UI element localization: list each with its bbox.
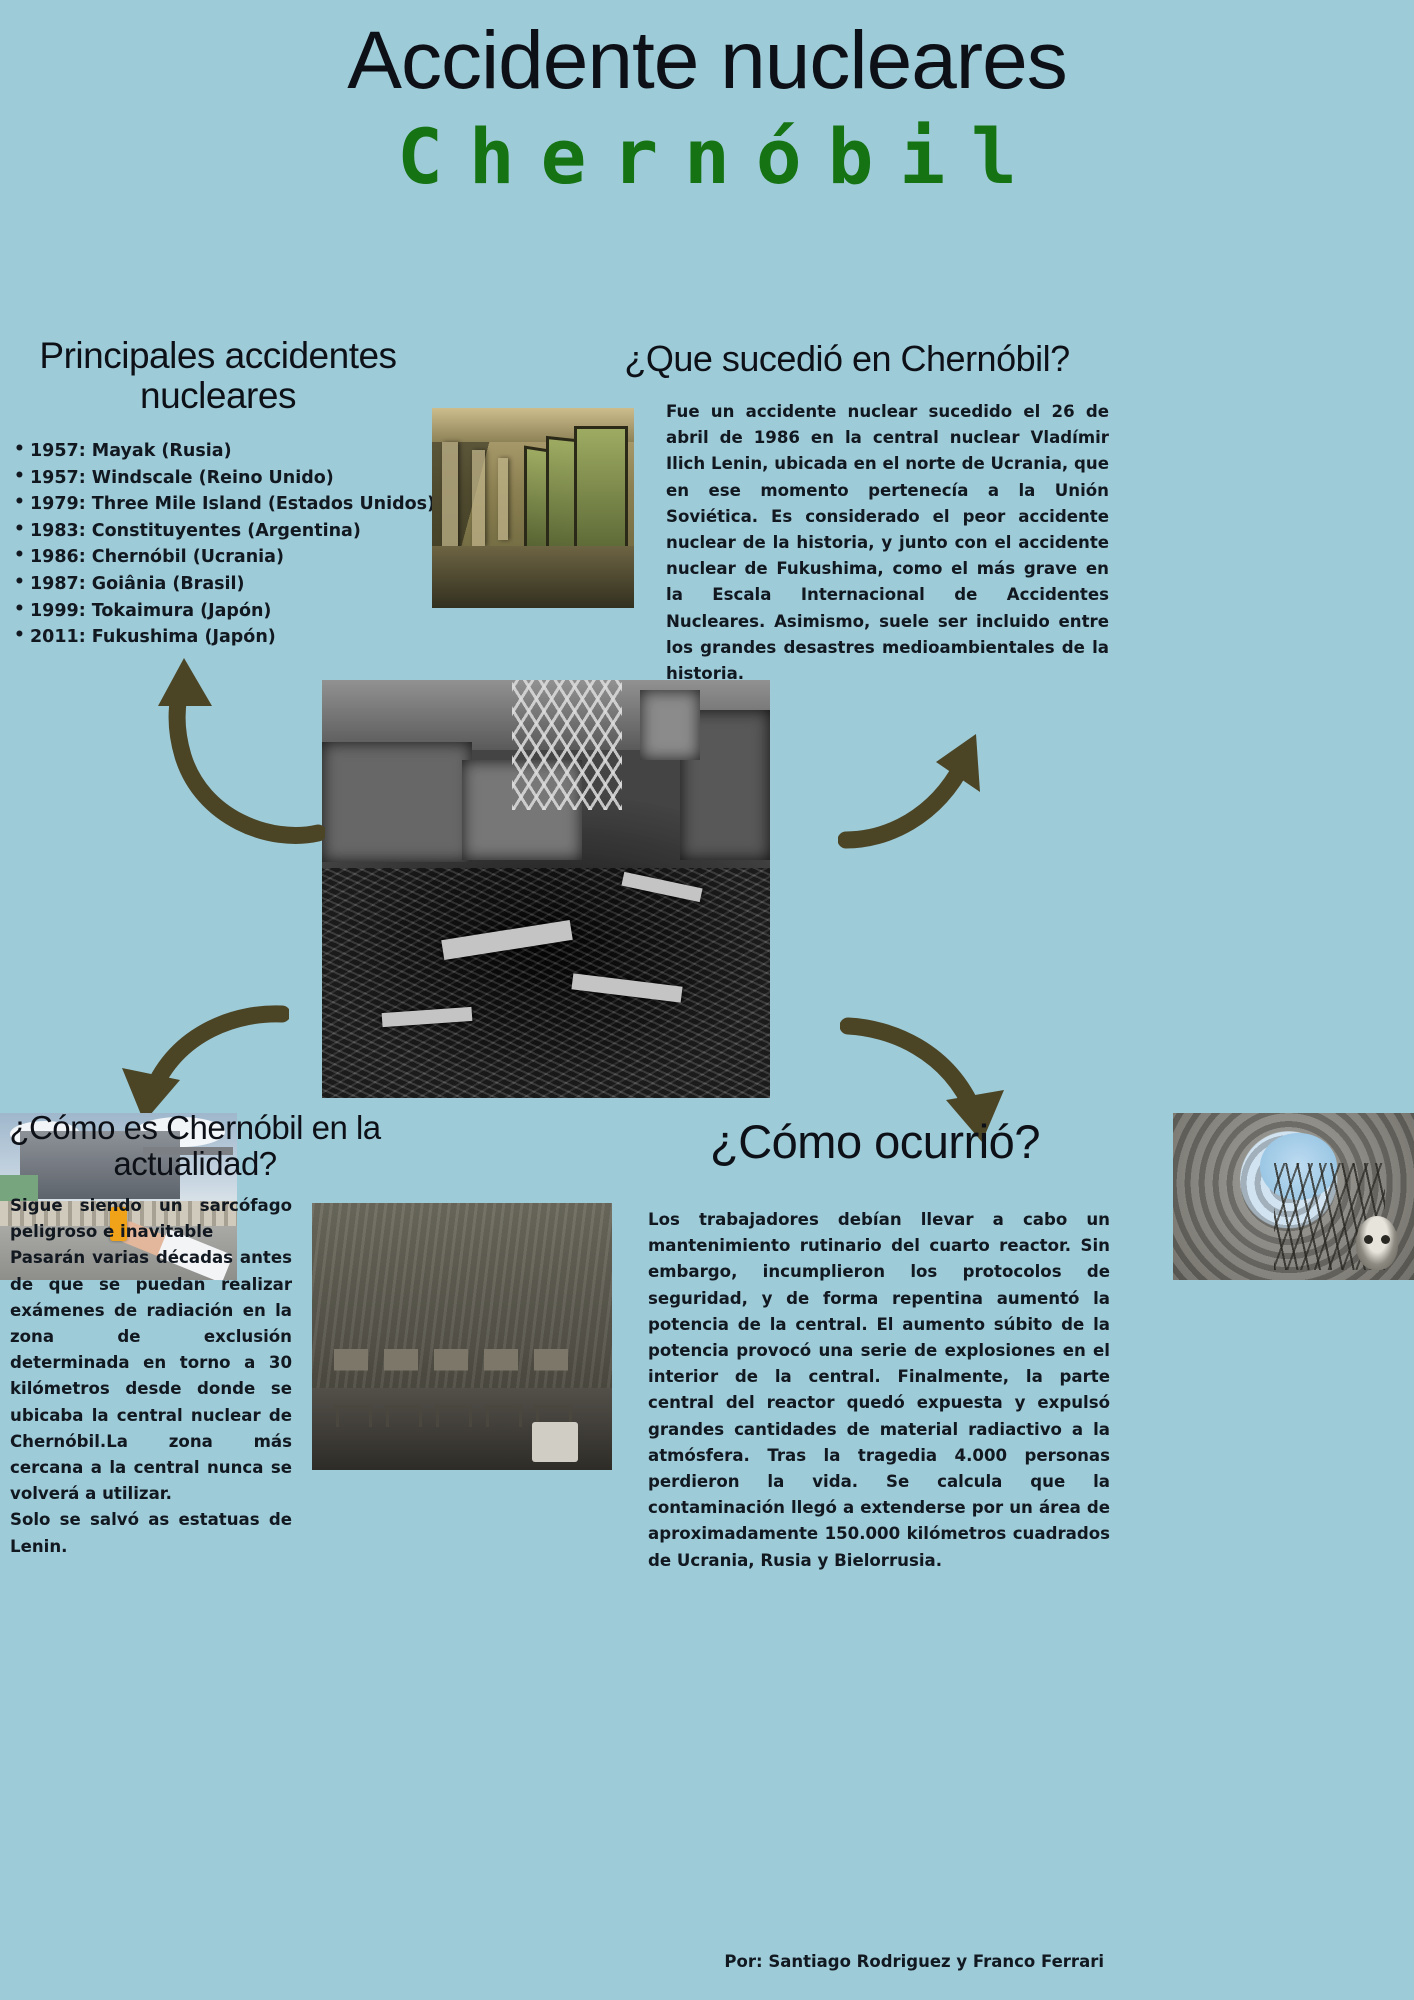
page-title: Accidente nucleares xyxy=(0,14,1414,108)
list-item: 1999: Tokaimura (Japón) xyxy=(14,598,444,625)
photo-layer xyxy=(334,1349,368,1408)
paragraph-text: Solo se salvó as estatuas de Lenin. xyxy=(10,1507,292,1559)
photo-layer xyxy=(498,458,508,540)
arrow-up-left-icon xyxy=(150,648,325,848)
cooling-tower-interior-photo xyxy=(1173,1113,1414,1280)
list-item: 1979: Three Mile Island (Estados Unidos) xyxy=(14,491,444,518)
photo-layer xyxy=(1356,1216,1398,1270)
photo-layer xyxy=(472,450,485,546)
list-item: 1986: Chernóbil (Ucrania) xyxy=(14,544,444,571)
list-item: 2011: Fukushima (Japón) xyxy=(14,624,444,651)
paragraph-actualidad: Sigue siendo un sarcófago peligroso e in… xyxy=(10,1193,292,1560)
abandoned-room-chairs-photo xyxy=(312,1203,612,1470)
section-heading-actualidad: ¿Cómo es Chernóbil en la actualidad? xyxy=(0,1110,390,1181)
paragraph-como-ocurrio: Los trabajadores debían llevar a cabo un… xyxy=(648,1207,1110,1574)
paragraph-text: Los trabajadores debían llevar a cabo un… xyxy=(648,1207,1110,1574)
paragraph-text: Pasarán varias décadas antes de que se p… xyxy=(10,1245,292,1507)
photo-layer xyxy=(432,546,634,608)
paragraph-text: Fue un accidente nuclear sucedido el 26 … xyxy=(666,399,1109,687)
paragraph-text: Sigue siendo un sarcófago peligroso e in… xyxy=(10,1193,292,1245)
poster-canvas: Accidente nucleares Chernóbil Principale… xyxy=(0,0,1414,2000)
paragraph-que-sucedio: Fue un accidente nuclear sucedido el 26 … xyxy=(666,399,1109,687)
arrow-up-right-icon xyxy=(838,700,1003,850)
destroyed-reactor-aerial-photo xyxy=(322,680,770,1098)
photo-layer xyxy=(322,742,472,862)
page-subtitle: Chernóbil xyxy=(0,112,1414,201)
photo-layer xyxy=(384,1349,418,1408)
section-heading-que-sucedio: ¿Que sucedió en Chernóbil? xyxy=(580,340,1114,379)
photo-layer xyxy=(442,442,458,552)
photo-layer xyxy=(512,680,622,810)
section-heading-como-ocurrio: ¿Cómo ocurrió? xyxy=(640,1117,1110,1168)
photo-layer xyxy=(322,868,770,1098)
section-heading-accidents: Principales accidentes nucleares xyxy=(8,336,428,416)
photo-layer xyxy=(534,1349,568,1408)
photo-layer xyxy=(434,1349,468,1408)
photo-layer xyxy=(640,690,700,760)
credits-line: Por: Santiago Rodriguez y Franco Ferrari xyxy=(614,1952,1104,1971)
photo-layer xyxy=(484,1349,518,1408)
list-item: 1957: Mayak (Rusia) xyxy=(14,438,444,465)
list-item: 1957: Windscale (Reino Unido) xyxy=(14,465,444,492)
photo-layer xyxy=(532,1422,578,1462)
list-item: 1983: Constituyentes (Argentina) xyxy=(14,518,444,545)
accident-list: 1957: Mayak (Rusia) 1957: Windscale (Rei… xyxy=(14,438,444,651)
abandoned-corridor-photo xyxy=(432,408,634,608)
list-item: 1987: Goiânia (Brasil) xyxy=(14,571,444,598)
